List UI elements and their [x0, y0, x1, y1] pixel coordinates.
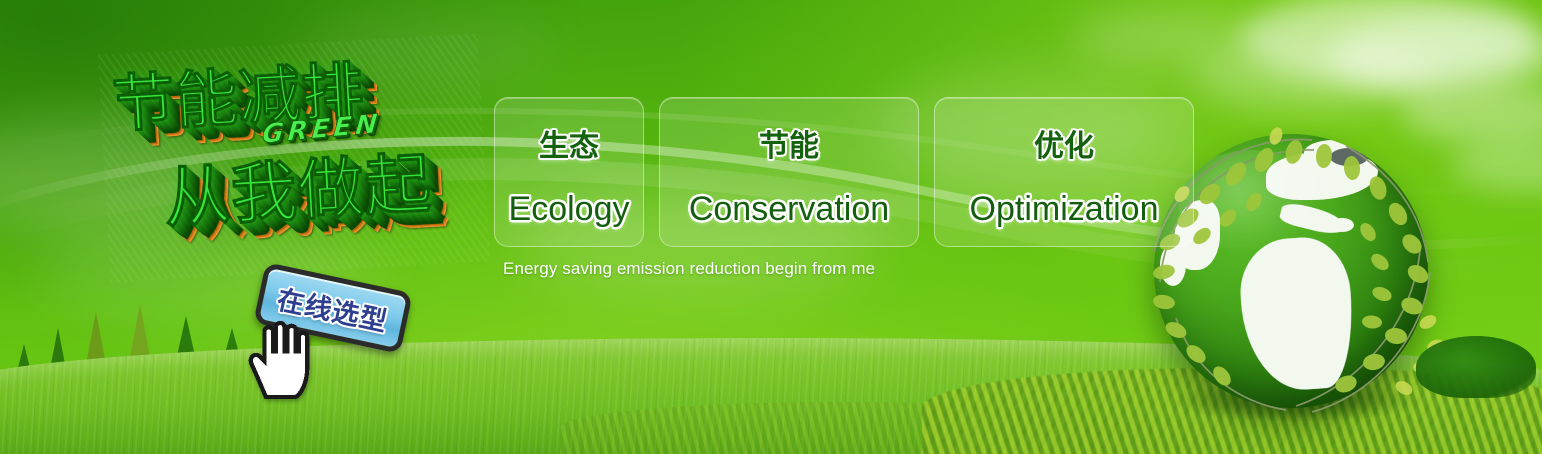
green-energy-banner: 节能减排 从我做起 GREEN 生态 Ecology 节能 Conservati…: [0, 0, 1542, 454]
feature-card-title-cn: 优化: [1034, 132, 1094, 162]
feature-card-conservation[interactable]: 节能 Conservation: [659, 97, 919, 247]
feature-card-title-cn: 节能: [759, 132, 819, 162]
continent-west-edge: [1160, 244, 1186, 286]
feature-card-optimization[interactable]: 优化 Optimization: [934, 97, 1194, 247]
continent-arctic-patch: [1330, 148, 1368, 166]
feature-card-title-en: Ecology: [509, 192, 630, 226]
feature-card-title-cn: 生态: [539, 132, 599, 162]
pointing-hand-cursor-icon: [246, 320, 320, 400]
background-bush: [1416, 336, 1536, 398]
feature-card-title-en: Optimization: [970, 192, 1159, 226]
continent-south-america: [1237, 234, 1357, 393]
tagline: Energy saving emission reduction begin f…: [503, 259, 875, 279]
feature-card-ecology[interactable]: 生态 Ecology: [494, 97, 644, 247]
globe-sphere: [1154, 134, 1428, 408]
feature-card-title-en: Conservation: [689, 192, 889, 226]
hero-title: 节能减排 从我做起 GREEN: [98, 34, 490, 283]
globe-highlight: [1178, 150, 1328, 254]
continent-islands: [1330, 218, 1354, 232]
hero-title-line2: 从我做起: [161, 130, 434, 241]
feature-cards: 生态 Ecology 节能 Conservation 优化 Optimizati…: [494, 97, 1194, 245]
